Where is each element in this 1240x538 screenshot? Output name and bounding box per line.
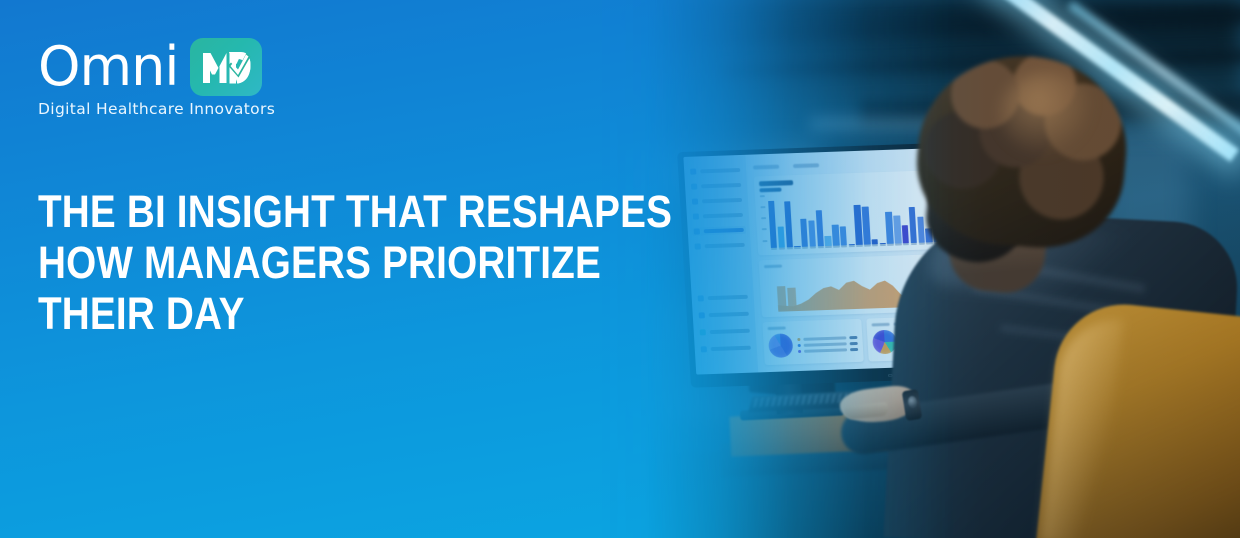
headline-line-2: HOW MANAGERS PRIORITIZE [38, 237, 571, 288]
banner-content: Omni Digital Healthcare Innovators THE B… [0, 0, 1240, 538]
brand-name: Omni [38, 40, 178, 94]
md-logo-icon [190, 38, 262, 96]
headline-line-1: THE BI INSIGHT THAT RESHAPES [38, 186, 571, 237]
md-monogram-icon [201, 48, 251, 86]
page-title: THE BI INSIGHT THAT RESHAPES HOW MANAGER… [38, 186, 571, 339]
brand-tagline: Digital Healthcare Innovators [38, 100, 275, 118]
promo-banner: 123456789101112131415161718192021222324 [0, 0, 1240, 538]
headline-line-3: THEIR DAY [38, 288, 571, 339]
brand-logo[interactable]: Omni [38, 38, 262, 96]
